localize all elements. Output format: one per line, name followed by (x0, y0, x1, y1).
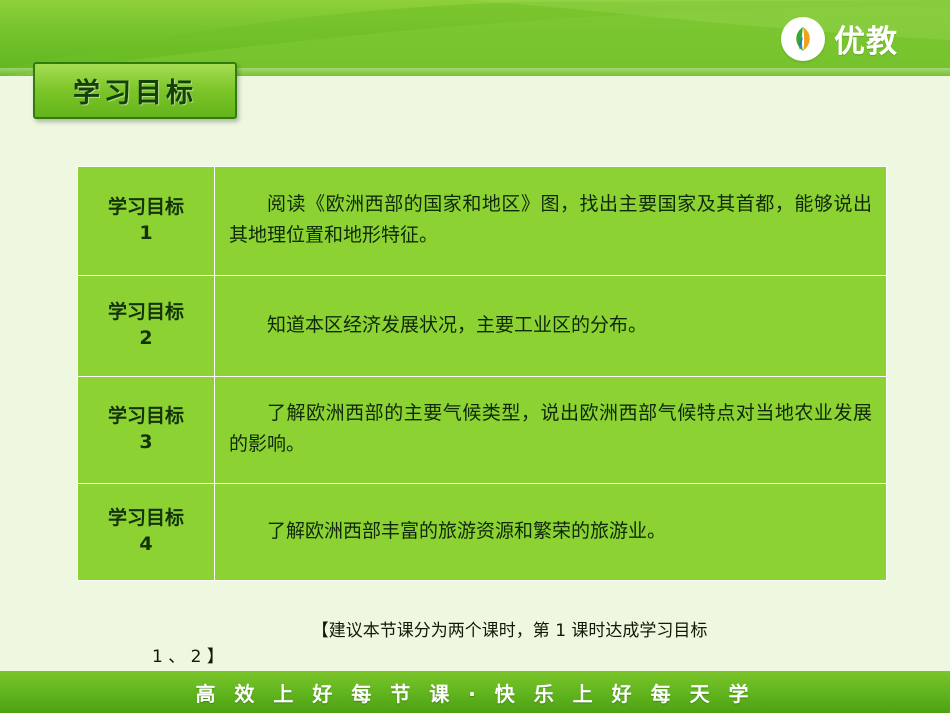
goal-label-3-line2: 3 (82, 430, 210, 456)
goal-text-1: 阅读《欧洲西部的国家和地区》图，找出主要国家及其首都，能够说出其地理位置和地形特… (215, 167, 887, 276)
page-title-text: 学习目标 (73, 71, 197, 110)
goal-label-3: 学习目标 3 (78, 377, 215, 484)
goal-label-2: 学习目标 2 (78, 276, 215, 377)
learning-goals-table: 学习目标 1 阅读《欧洲西部的国家和地区》图，找出主要国家及其首都，能够说出其地… (77, 166, 887, 581)
goal-label-2-line2: 2 (82, 326, 210, 352)
suggestion-note-line1: 【建议本节课分为两个课时，第 1 课时达成学习目标 (152, 618, 852, 644)
goal-label-1-line2: 1 (82, 221, 210, 247)
leaf-logo-icon (781, 17, 825, 61)
table-row: 学习目标 2 知道本区经济发展状况，主要工业区的分布。 (78, 276, 887, 377)
suggestion-note: 【建议本节课分为两个课时，第 1 课时达成学习目标 1 、 2 】 (152, 618, 852, 671)
suggestion-note-line2: 1 、 2 】 (152, 644, 852, 670)
goal-label-1: 学习目标 1 (78, 167, 215, 276)
table-row: 学习目标 4 了解欧洲西部丰富的旅游资源和繁荣的旅游业。 (78, 484, 887, 581)
goal-label-4: 学习目标 4 (78, 484, 215, 581)
goal-label-4-line1: 学习目标 (82, 506, 210, 532)
goal-label-2-line1: 学习目标 (82, 300, 210, 326)
goal-text-3: 了解欧洲西部的主要气候类型，说出欧洲西部气候特点对当地农业发展的影响。 (215, 377, 887, 484)
footer-bar: 高 效 上 好 每 节 课 · 快 乐 上 好 每 天 学 (0, 671, 950, 713)
table-row: 学习目标 1 阅读《欧洲西部的国家和地区》图，找出主要国家及其首都，能够说出其地… (78, 167, 887, 276)
table-row: 学习目标 3 了解欧洲西部的主要气候类型，说出欧洲西部气候特点对当地农业发展的影… (78, 377, 887, 484)
brand-name: 优教 (834, 16, 898, 61)
page-title: 学习目标 (33, 62, 237, 119)
goal-text-2: 知道本区经济发展状况，主要工业区的分布。 (215, 276, 887, 377)
goal-label-4-line2: 4 (82, 532, 210, 558)
brand-logo: 优教 (781, 16, 898, 61)
goal-label-3-line1: 学习目标 (82, 404, 210, 430)
goal-label-1-line1: 学习目标 (82, 195, 210, 221)
footer-slogan: 高 效 上 好 每 节 课 · 快 乐 上 好 每 天 学 (195, 678, 754, 707)
goal-text-4: 了解欧洲西部丰富的旅游资源和繁荣的旅游业。 (215, 484, 887, 581)
